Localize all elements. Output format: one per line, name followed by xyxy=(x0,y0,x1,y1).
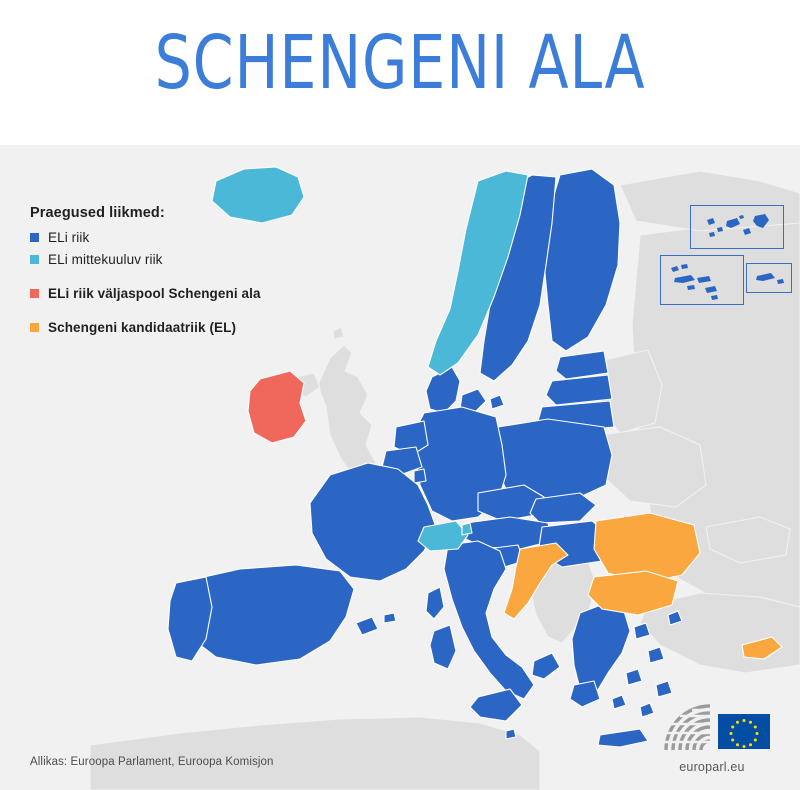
canary-islands-inset-shapes xyxy=(661,256,743,304)
legend-item-label: ELi mittekuuluv riik xyxy=(48,252,163,267)
european-parliament-logo: europarl.eu xyxy=(646,702,778,774)
legend-item-schengen-candidate: Schengeni kandidaatriik (EL) xyxy=(30,320,261,335)
map-legend: Praegused liikmed: ELi riik ELi mittekuu… xyxy=(30,205,261,342)
source-attribution: Allikas: Euroopa Parlament, Euroopa Komi… xyxy=(30,756,273,768)
europarl-url: europarl.eu xyxy=(646,760,778,774)
schengen-candidate-swatch-icon xyxy=(30,323,39,332)
eu-outside-schengen-swatch-icon xyxy=(30,289,39,298)
azores-inset xyxy=(690,205,784,249)
legend-item-eu-outside-schengen: ELi riik väljaspool Schengeni ala xyxy=(30,286,261,301)
azores-inset-shapes xyxy=(691,206,783,248)
madeira-inset-shapes xyxy=(747,264,791,292)
madeira-inset xyxy=(746,263,792,293)
legend-item-eu-country: ELi riik xyxy=(30,230,261,245)
schengen-area-infographic: SCHENGENI ALA .b{stroke:#ffffff;stroke-w… xyxy=(0,0,800,790)
canary-islands-inset xyxy=(660,255,744,305)
legend-item-non-eu-country: ELi mittekuuluv riik xyxy=(30,252,261,267)
page-title: SCHENGENI ALA xyxy=(48,22,752,104)
legend-item-label: ELi riik xyxy=(48,230,89,245)
eu-country-swatch-icon xyxy=(30,233,39,242)
legend-title: Praegused liikmed: xyxy=(30,205,261,221)
header: SCHENGENI ALA xyxy=(0,0,800,145)
ep-hemicycle-icon xyxy=(646,702,778,752)
legend-item-label: ELi riik väljaspool Schengeni ala xyxy=(48,286,261,301)
non-eu-country-swatch-icon xyxy=(30,255,39,264)
map-panel: .b{stroke:#ffffff;stroke-width:1.1;strok… xyxy=(0,145,800,790)
legend-item-label: Schengeni kandidaatriik (EL) xyxy=(48,320,236,335)
